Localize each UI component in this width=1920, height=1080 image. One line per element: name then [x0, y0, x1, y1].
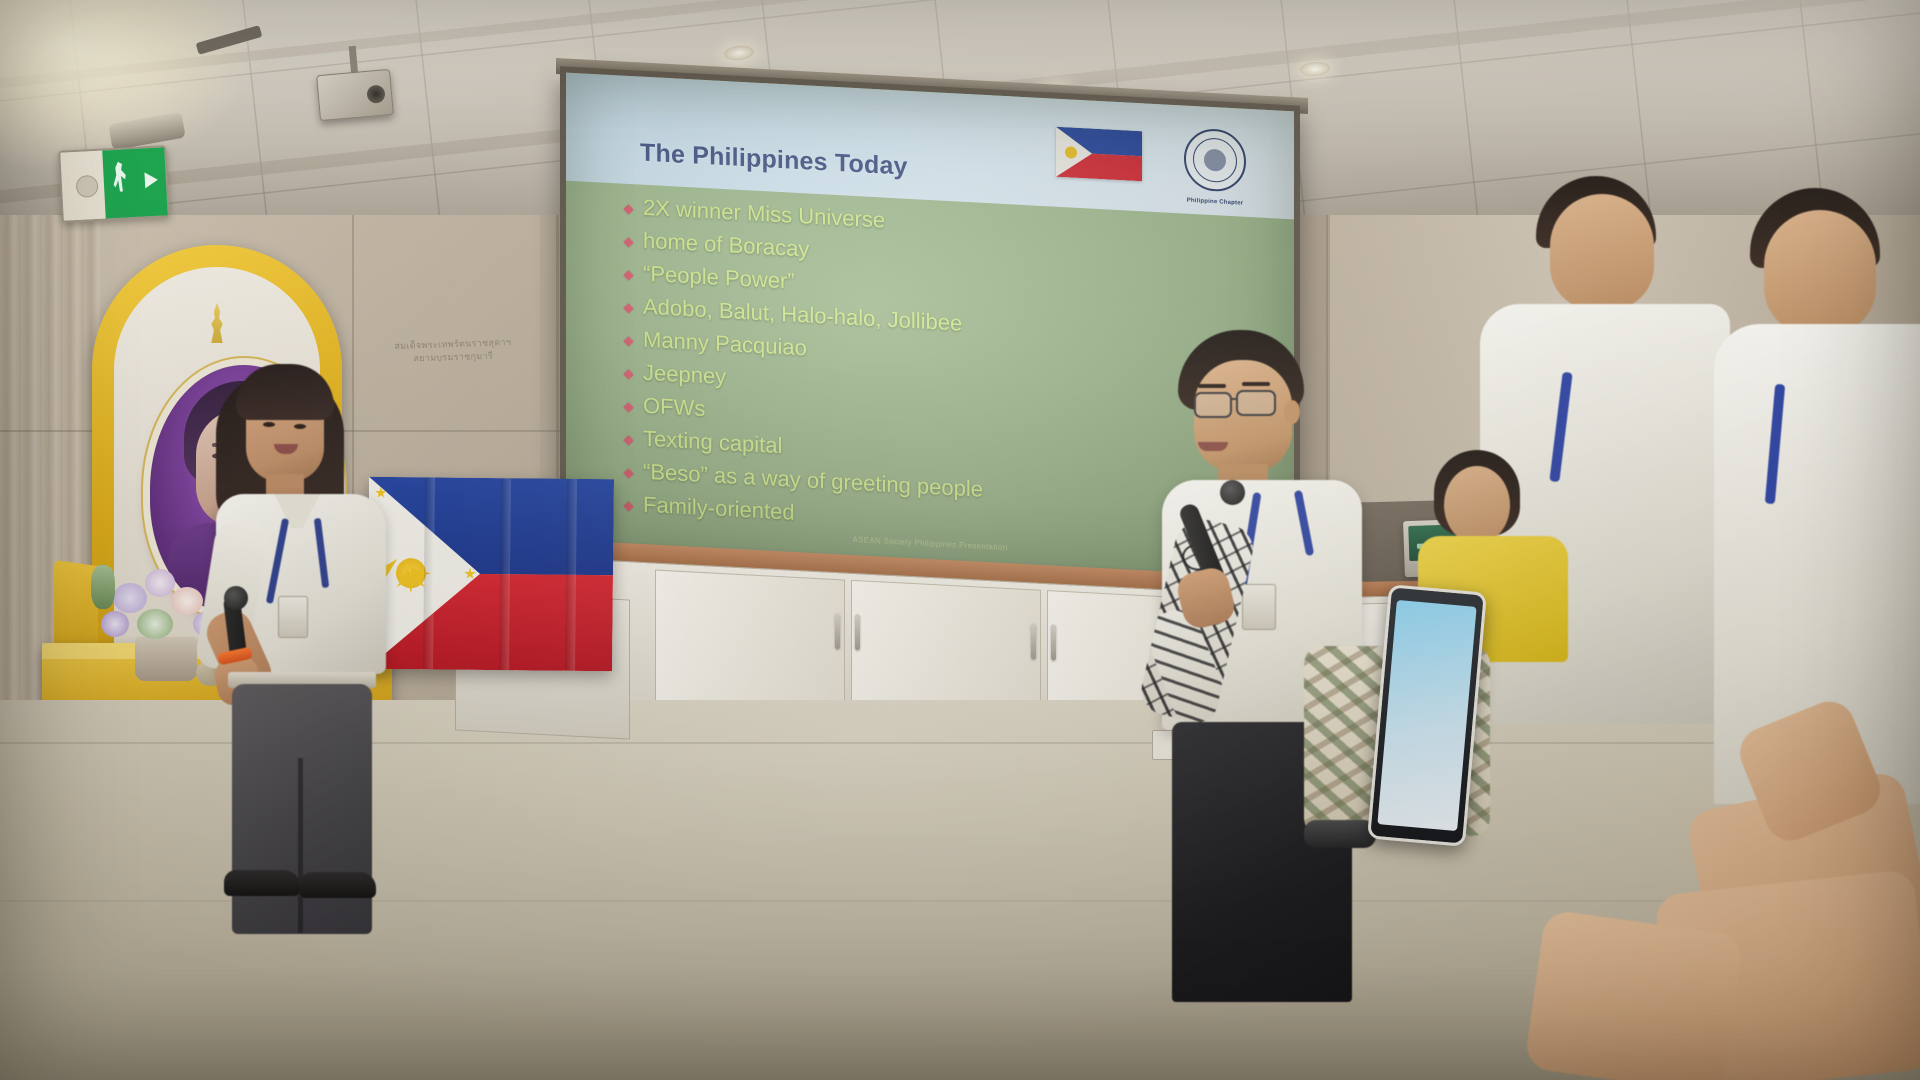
flower: [101, 611, 129, 637]
bullet-diamond-icon: [623, 402, 633, 412]
bullet-diamond-icon: [623, 303, 633, 313]
bullet-text: Texting capital: [643, 426, 782, 459]
person-head: [1764, 210, 1876, 334]
woman-eye: [294, 424, 306, 429]
woman-eye: [263, 422, 275, 427]
flower-vase: [135, 637, 197, 681]
bullet-diamond-icon: [623, 435, 633, 445]
bullet-text: “People Power”: [643, 261, 795, 295]
bullet-text: OFWs: [643, 393, 705, 422]
flag-fold: [499, 478, 511, 670]
bullet-text: Jeepney: [643, 360, 726, 390]
bullet-text: 2X winner Miss Universe: [643, 195, 885, 234]
presentation-photo-scene: สมเด็จพระเทพรัตนราชสุดาฯ สยามบรมราชกุมาร…: [0, 0, 1920, 1080]
cabinet-handle[interactable]: [1051, 624, 1056, 660]
flower: [113, 583, 147, 613]
bullet-diamond-icon: [623, 468, 633, 478]
man-brow: [1242, 382, 1270, 386]
bullet-diamond-icon: [623, 270, 633, 280]
person-head: [1444, 466, 1510, 544]
eyeglasses-icon: [1236, 390, 1276, 416]
bullet-diamond-icon: [623, 501, 633, 511]
bullet-text: home of Boracay: [643, 228, 809, 263]
man-brow: [1198, 384, 1226, 388]
projector-lens-icon: [366, 84, 386, 104]
woman-speaker: [222, 358, 412, 968]
bullet-text: Family-oriented: [643, 492, 795, 526]
person-shoe: [1304, 820, 1376, 848]
exit-sign-blank-panel: [60, 151, 105, 221]
foliage: [137, 609, 173, 639]
man-id-badge: [1242, 584, 1276, 630]
exit-sign-green-panel: [102, 147, 168, 218]
microphone-icon: [1220, 480, 1245, 505]
eyeglasses-bridge: [1231, 398, 1238, 400]
person-head: [1550, 194, 1654, 310]
exit-sign: [58, 145, 170, 223]
cabinet-handle[interactable]: [835, 613, 840, 649]
cabinet-handle[interactable]: [855, 614, 860, 650]
foliage: [91, 565, 115, 609]
bullet-diamond-icon: [623, 336, 633, 346]
bullet-diamond-icon: [623, 204, 633, 214]
woman-id-badge: [278, 596, 308, 638]
flag-fold: [423, 477, 435, 669]
woman-leg-seam: [298, 758, 303, 933]
flower: [171, 587, 203, 615]
flag-fold: [565, 479, 577, 671]
bullet-diamond-icon: [623, 369, 633, 379]
philippine-flag-logo-icon: [1056, 127, 1142, 182]
woman-shoe: [300, 872, 376, 898]
tablet-screen[interactable]: [1377, 600, 1476, 831]
exit-sign-indicator-icon: [76, 175, 99, 198]
bullet-text: Manny Pacquiao: [643, 327, 807, 362]
cabinet-handle[interactable]: [1031, 623, 1036, 659]
foreground-hand-second: [1524, 909, 1744, 1080]
woman-shoe: [224, 870, 300, 896]
man-ear: [1284, 400, 1300, 424]
man-mouth: [1198, 442, 1228, 451]
ceiling-projector: [316, 69, 394, 121]
running-man-icon: [111, 161, 129, 192]
woman-hair-top: [236, 364, 334, 420]
eyeglasses-icon: [1194, 392, 1232, 418]
asean-society-seal-icon: Philippine Chapter: [1184, 128, 1246, 193]
bullet-diamond-icon: [623, 237, 633, 247]
arrow-right-icon: [144, 172, 158, 189]
flower: [145, 569, 175, 597]
